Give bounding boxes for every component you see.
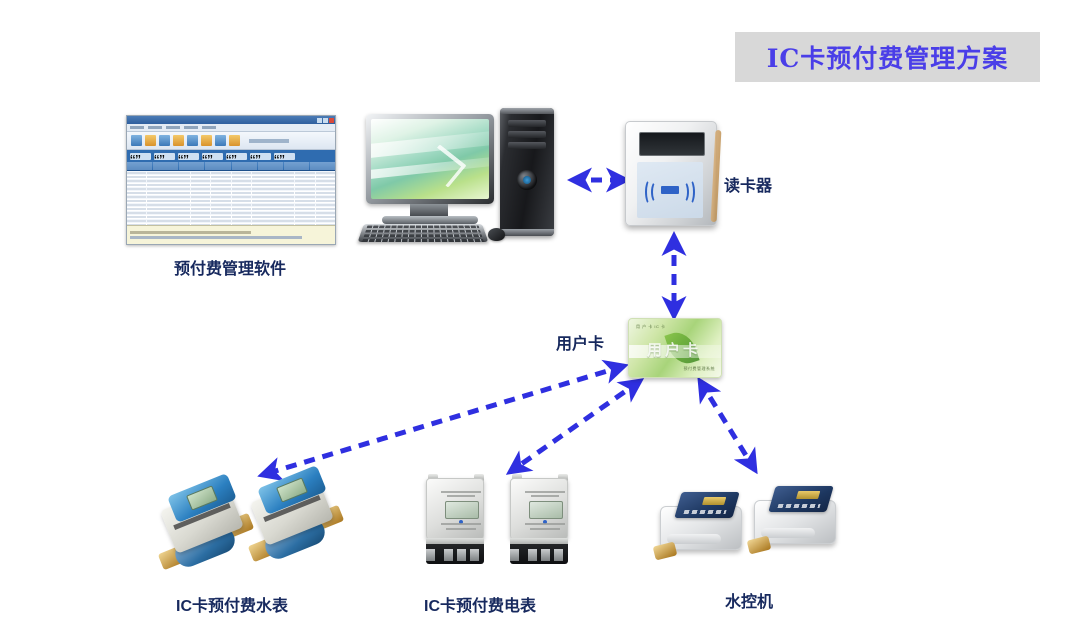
terminal-slot [457, 549, 466, 561]
table-row [127, 195, 335, 199]
table-cell [316, 204, 335, 207]
key-row [364, 234, 483, 237]
table-cell [127, 176, 146, 179]
toolbar-caption [249, 139, 289, 143]
table-cell [252, 180, 295, 183]
controller-display [796, 491, 820, 499]
card-reader-body [625, 121, 717, 226]
meter-display [445, 501, 479, 519]
column-header [127, 162, 152, 170]
table-cell [211, 192, 230, 195]
table-cell [295, 212, 314, 215]
table-cell [252, 200, 295, 203]
table-cell [316, 208, 335, 211]
tab [154, 153, 175, 160]
terminal-slot [528, 549, 537, 561]
tower-top-cap [500, 108, 554, 114]
table-cell [295, 176, 314, 179]
table-cell [147, 216, 190, 219]
status-progress [130, 236, 302, 239]
column-header [284, 162, 309, 170]
table-row [127, 191, 335, 195]
card-top-microtext: 用 户 卡 IC 卡 [636, 324, 665, 330]
table-row [127, 215, 335, 219]
table-cell [191, 188, 210, 191]
toolbar-icon [159, 135, 170, 146]
tab [130, 153, 151, 160]
meter-print-line [446, 528, 476, 530]
status-text [130, 231, 251, 234]
water-controller [750, 482, 842, 554]
card-reader-display [639, 132, 705, 156]
table-cell [252, 188, 295, 191]
rfid-wave-arc [685, 179, 695, 205]
table-cell [211, 200, 230, 203]
table-cell [147, 212, 190, 215]
toolbar-icon [131, 135, 142, 146]
brass-outlet [747, 536, 772, 555]
table-cell [211, 204, 230, 207]
table-cell [316, 172, 335, 175]
card-face-text: 用户卡 [647, 339, 701, 360]
prepaid-management-software-screenshot [126, 115, 336, 245]
table-cell [232, 188, 251, 191]
table-cell [252, 204, 295, 207]
table-cell [252, 192, 295, 195]
tab [178, 153, 199, 160]
software-label: 预付费管理软件 [150, 255, 310, 279]
table-row [127, 183, 335, 187]
monitor [366, 114, 494, 204]
table-cell [232, 180, 251, 183]
software-statusbar [127, 225, 335, 244]
table-cell [252, 196, 295, 199]
table-cell [147, 200, 190, 203]
table-cell [252, 184, 295, 187]
table-cell [211, 220, 230, 223]
keyboard [358, 224, 489, 242]
meter-print-line [441, 523, 481, 525]
terminal-block [510, 538, 568, 564]
meter-print-line [525, 491, 565, 493]
table-cell [147, 220, 190, 223]
terminal-slot [554, 549, 563, 561]
terminal-slot [470, 549, 479, 561]
table-cell [316, 216, 335, 219]
table-cell [211, 180, 230, 183]
table-row [127, 199, 335, 203]
terminal-lip [510, 538, 568, 544]
table-cell [127, 180, 146, 183]
meter-display [529, 501, 563, 519]
toolbar-icon [173, 135, 184, 146]
prepaid-water-meter [248, 470, 340, 562]
meter-print-line [447, 495, 475, 497]
column-header [153, 162, 178, 170]
table-cell [316, 196, 335, 199]
menu-item [166, 126, 180, 129]
rfid-wave-icon [642, 179, 698, 201]
ic-user-card: 用 户 卡 IC 卡 用户卡 预付费管理系统 [628, 318, 722, 378]
meter-print-line [525, 523, 565, 525]
table-cell [232, 216, 251, 219]
table-cell [127, 204, 146, 207]
menu-item [202, 126, 216, 129]
table-cell [252, 220, 295, 223]
table-cell [127, 196, 146, 199]
table-cell [316, 176, 335, 179]
controller-keys [777, 504, 820, 508]
table-cell [232, 196, 251, 199]
card-bottom-microtext: 预付费管理系统 [684, 366, 716, 372]
table-cell [127, 188, 146, 191]
arrow-card-to-electric-meter [510, 381, 640, 472]
column-header [310, 162, 335, 170]
table-cell [252, 208, 295, 211]
card-reader-side-edge [711, 130, 722, 222]
water-meter-label: IC卡预付费水表 [176, 592, 288, 616]
table-cell [316, 192, 335, 195]
meter-print-line [530, 528, 560, 530]
key-row [367, 226, 480, 229]
table-cell [147, 176, 190, 179]
monitor-screen [371, 119, 489, 199]
table-cell [191, 176, 210, 179]
tab [202, 153, 223, 160]
table-cell [147, 204, 190, 207]
table-cell [191, 216, 210, 219]
mouse [488, 228, 505, 241]
table-cell [295, 196, 314, 199]
column-header [258, 162, 283, 170]
table-cell [252, 216, 295, 219]
table-cell [295, 188, 314, 191]
terminal-slot [444, 549, 453, 561]
table-cell [295, 180, 314, 183]
table-cell [295, 204, 314, 207]
water-controller-label: 水控机 [725, 588, 773, 612]
table-cell [211, 184, 230, 187]
table-row [127, 175, 335, 179]
table-cell [191, 172, 210, 175]
table-cell [316, 184, 335, 187]
water-controller [656, 488, 748, 560]
tab [274, 153, 295, 160]
terminal-slot [541, 549, 550, 561]
arrow-card-to-water-controller [700, 381, 755, 470]
table-cell [147, 184, 190, 187]
table-cell [232, 172, 251, 175]
table-cell [127, 220, 146, 223]
table-row [127, 203, 335, 207]
drive-bay [508, 120, 546, 127]
column-header [232, 162, 257, 170]
table-cell [232, 204, 251, 207]
table-cell [295, 172, 314, 175]
software-titlebar [127, 116, 335, 124]
close-icon [329, 118, 334, 123]
software-tabbar [127, 150, 335, 162]
toolbar-icon [145, 135, 156, 146]
table-cell [191, 192, 210, 195]
diagram-canvas: IC卡预付费管理方案 [0, 0, 1066, 640]
table-cell [295, 184, 314, 187]
table-cell [211, 188, 230, 191]
table-row [127, 211, 335, 215]
table-cell [127, 212, 146, 215]
table-cell [191, 180, 210, 183]
computer-tower [500, 108, 554, 236]
maximize-icon [323, 118, 328, 123]
table-cell [316, 180, 335, 183]
table-cell [295, 220, 314, 223]
table-cell [232, 200, 251, 203]
prepaid-electric-meter [504, 474, 576, 570]
rfid-chip-icon [661, 186, 679, 194]
desktop-computer [358, 108, 573, 248]
table-cell [232, 176, 251, 179]
electric-meter-label: IC卡预付费电表 [424, 592, 536, 616]
table-cell [232, 220, 251, 223]
table-cell [191, 200, 210, 203]
table-cell [295, 200, 314, 203]
table-cell [147, 172, 190, 175]
tower-foot-cap [500, 229, 554, 236]
controller-display [702, 497, 726, 505]
terminal-block [426, 538, 484, 564]
table-row [127, 219, 335, 223]
table-cell [211, 176, 230, 179]
toolbar-icon [187, 135, 198, 146]
monitor-base [382, 216, 478, 224]
software-menubar [127, 124, 335, 132]
table-cell [232, 192, 251, 195]
table-cell [316, 188, 335, 191]
data-table [127, 171, 335, 233]
table-cell [147, 196, 190, 199]
menu-item [184, 126, 198, 129]
table-cell [127, 208, 146, 211]
user-card-label: 用户卡 [556, 330, 604, 354]
table-cell [147, 180, 190, 183]
table-row [127, 171, 335, 175]
table-cell [211, 216, 230, 219]
table-cell [127, 200, 146, 203]
table-cell [191, 208, 210, 211]
table-cell [211, 172, 230, 175]
key-row [362, 239, 484, 242]
software-toolbar [127, 132, 335, 150]
table-cell [252, 172, 295, 175]
table-cell [127, 192, 146, 195]
minimize-icon [317, 118, 322, 123]
table-cell [211, 196, 230, 199]
table-cell [211, 212, 230, 215]
table-cell [147, 192, 190, 195]
meter-case [510, 478, 568, 540]
table-cell [316, 212, 335, 215]
table-cell [147, 188, 190, 191]
table-row [127, 207, 335, 211]
card-reader-label: 读卡器 [724, 172, 772, 196]
meter-case [426, 478, 484, 540]
table-cell [295, 208, 314, 211]
title-banner: IC卡预付费管理方案 [735, 32, 1040, 82]
tab [226, 153, 247, 160]
table-cell [127, 216, 146, 219]
table-cell [211, 208, 230, 211]
column-header [205, 162, 230, 170]
meter-print-line [531, 495, 559, 497]
column-header [179, 162, 204, 170]
controller-keys [683, 510, 726, 514]
table-row [127, 187, 335, 191]
tab [250, 153, 271, 160]
card-placement-area [637, 162, 703, 218]
meter-print-line [441, 491, 481, 493]
prepaid-water-meter [158, 478, 250, 570]
toolbar-icon [201, 135, 212, 146]
toolbar-icon [215, 135, 226, 146]
table-cell [232, 184, 251, 187]
controller-panel [768, 486, 833, 512]
table-cell [295, 216, 314, 219]
brass-outlet [653, 542, 678, 561]
table-cell [191, 196, 210, 199]
table-cell [295, 192, 314, 195]
power-button-icon [517, 170, 537, 190]
menu-item [148, 126, 162, 129]
controller-panel [674, 492, 739, 518]
page-title: IC卡预付费管理方案 [767, 39, 1009, 75]
prepaid-electric-meter [420, 474, 492, 570]
arrow-card-to-water-meter [262, 366, 624, 475]
table-cell [191, 184, 210, 187]
table-cell [232, 208, 251, 211]
rfid-wave-arc [651, 181, 661, 203]
table-cell [127, 184, 146, 187]
table-column-headers [127, 162, 335, 171]
table-cell [232, 212, 251, 215]
table-row [127, 179, 335, 183]
terminal-lip [426, 538, 484, 544]
toolbar-icon [229, 135, 240, 146]
table-cell [191, 212, 210, 215]
table-cell [127, 172, 146, 175]
drive-bay [508, 131, 546, 138]
drive-bay [508, 142, 546, 149]
terminal-slot [426, 549, 435, 561]
table-cell [191, 220, 210, 223]
menu-item [130, 126, 144, 129]
table-cell [252, 212, 295, 215]
table-cell [316, 200, 335, 203]
table-cell [252, 176, 295, 179]
key-row [365, 230, 481, 233]
rfid-card-reader [625, 121, 717, 226]
table-cell [191, 204, 210, 207]
table-cell [147, 208, 190, 211]
terminal-slot [510, 549, 519, 561]
table-cell [316, 220, 335, 223]
